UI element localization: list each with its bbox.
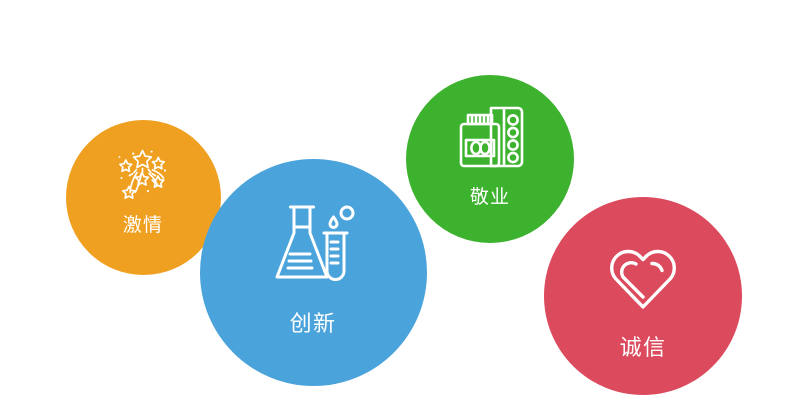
value-bubble-integrity[interactable]: 诚信 xyxy=(544,197,742,395)
medicine-bottle-blister-pack-icon xyxy=(452,100,528,176)
flask-test-tube-icon xyxy=(265,197,361,293)
value-label-passion: 激情 xyxy=(123,216,163,235)
value-bubble-innovation[interactable]: 创新 xyxy=(200,159,427,386)
heart-icon xyxy=(599,235,687,315)
value-bubble-passion[interactable]: 激情 xyxy=(66,120,221,275)
infographic-canvas: 激情 xyxy=(0,0,800,412)
value-label-dedication: 敬业 xyxy=(470,188,510,207)
value-bubble-dedication[interactable]: 敬业 xyxy=(406,75,574,243)
fireworks-icon xyxy=(111,142,175,206)
value-label-innovation: 创新 xyxy=(290,313,337,335)
value-label-integrity: 诚信 xyxy=(620,337,667,359)
